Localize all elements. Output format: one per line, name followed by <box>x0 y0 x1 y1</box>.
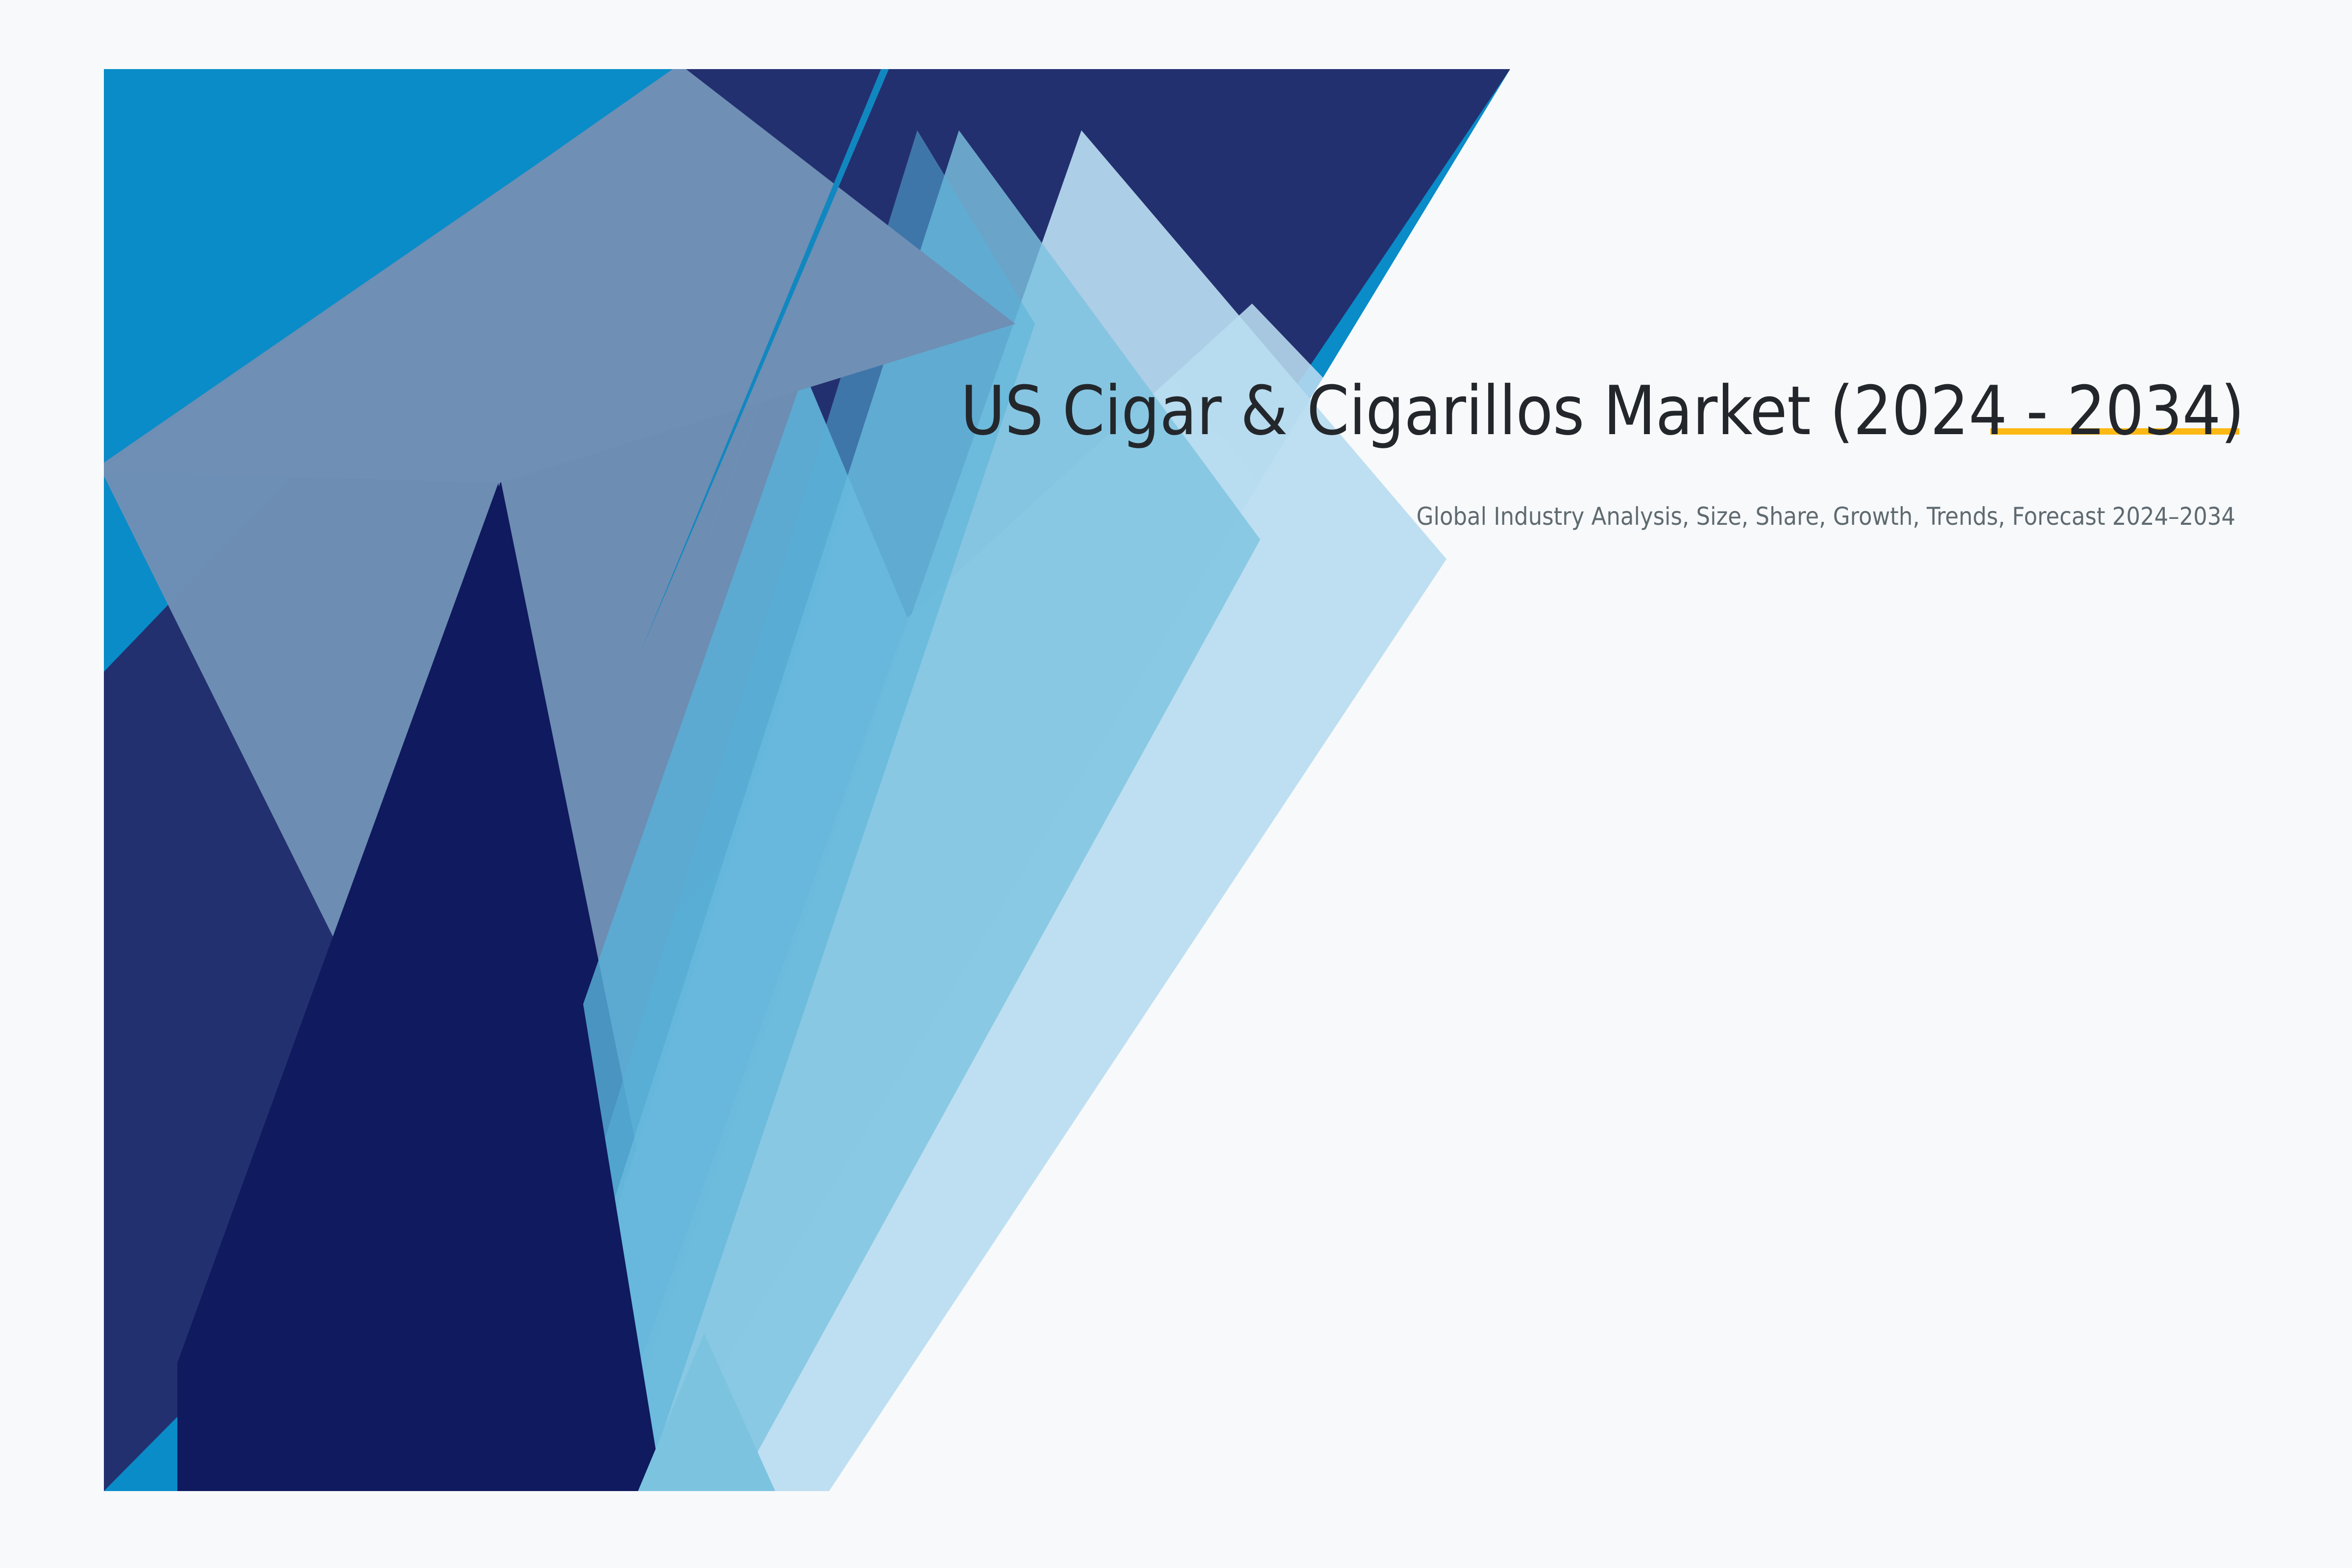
cover-artwork <box>104 69 1525 1491</box>
page-subtitle: Global Industry Analysis, Size, Share, G… <box>906 449 2244 533</box>
artwork-svg <box>104 69 1525 1491</box>
cover-slide: US Cigar & Cigarillos Market (2024 - 203… <box>0 0 2352 1568</box>
title-wrapper: US Cigar & Cigarillos Market (2024 - 203… <box>906 372 2244 449</box>
page-title: US Cigar & Cigarillos Market (2024 - 203… <box>906 372 2244 449</box>
cover-text-block: US Cigar & Cigarillos Market (2024 - 203… <box>906 372 2244 533</box>
